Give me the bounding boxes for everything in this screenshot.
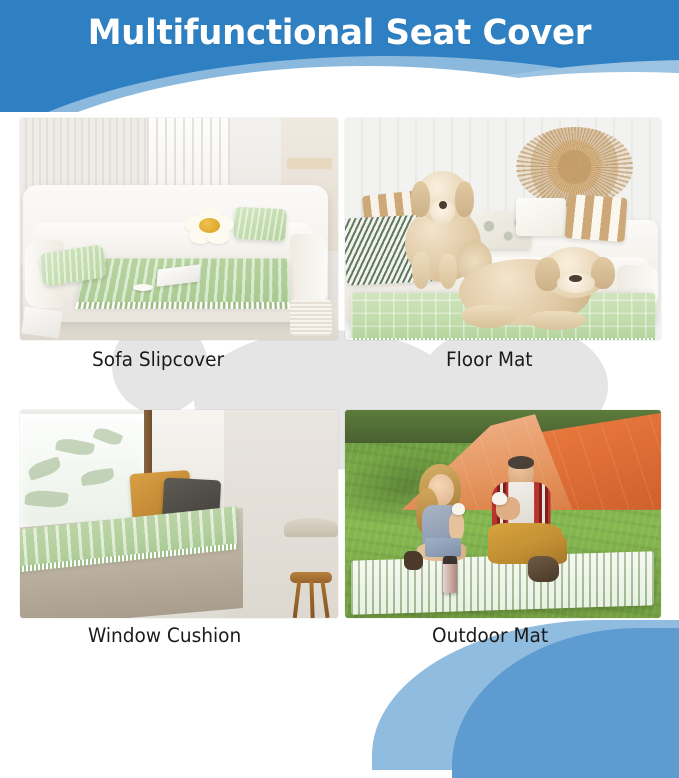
basket [290, 300, 331, 336]
thermos-lid [443, 556, 457, 564]
pillow-stripes [233, 207, 286, 241]
panel-sofa-slipcover[interactable] [20, 118, 338, 340]
stool-leg [293, 581, 302, 618]
window [20, 414, 147, 530]
woman-shorts [425, 538, 461, 557]
foliage [26, 456, 62, 481]
stool-leg [321, 581, 330, 618]
photo-window-cushion [20, 410, 338, 618]
dog-ear [535, 257, 560, 291]
label-sofa-slipcover: Sofa Slipcover [92, 348, 224, 371]
dog-ear [411, 181, 430, 218]
woman-arm [449, 512, 464, 540]
wooden-stool [290, 572, 331, 618]
man-hair [508, 456, 534, 469]
foliage [55, 436, 95, 458]
dog-on-mat [459, 247, 617, 336]
white-pillow [516, 198, 567, 236]
man-boot [528, 556, 558, 582]
floor-magazine [22, 306, 63, 338]
person-man [478, 456, 579, 585]
sofa-arm-right [290, 234, 327, 306]
green-square-pillow [233, 207, 286, 241]
striped-pillow-right [565, 194, 628, 242]
dog-leg [412, 252, 430, 289]
stool-leg [310, 581, 315, 618]
side-table [284, 518, 338, 537]
wall-shelf [287, 158, 332, 169]
dog-leg [528, 311, 585, 331]
seat-cover-fringe [75, 302, 290, 309]
woman-boot [404, 551, 424, 570]
thermos-flask [443, 556, 457, 593]
dog-ear [455, 181, 474, 218]
label-outdoor-mat: Outdoor Mat [432, 624, 548, 647]
photo-floor-mat [345, 118, 661, 340]
photo-sofa-slipcover [20, 118, 338, 340]
sofa [23, 185, 328, 323]
label-floor-mat: Floor Mat [446, 348, 533, 371]
floor-mat-fringe [351, 338, 654, 340]
daisy-center [199, 218, 220, 233]
dog-leg [439, 254, 457, 289]
dog-ear [591, 257, 615, 289]
cup [133, 284, 153, 291]
woman-cup [452, 503, 465, 515]
man-cup [492, 492, 507, 505]
foliage [24, 489, 69, 510]
foliage [92, 426, 123, 448]
foliage [80, 468, 115, 486]
panel-outdoor-mat[interactable] [345, 410, 661, 618]
product-grid [0, 0, 679, 679]
dog-leg [462, 305, 516, 328]
photo-outdoor-mat [345, 410, 661, 618]
daisy-cushion [185, 208, 234, 244]
label-window-cushion: Window Cushion [88, 624, 241, 647]
panel-window-cushion[interactable] [20, 410, 338, 618]
panel-floor-mat[interactable] [345, 118, 661, 340]
